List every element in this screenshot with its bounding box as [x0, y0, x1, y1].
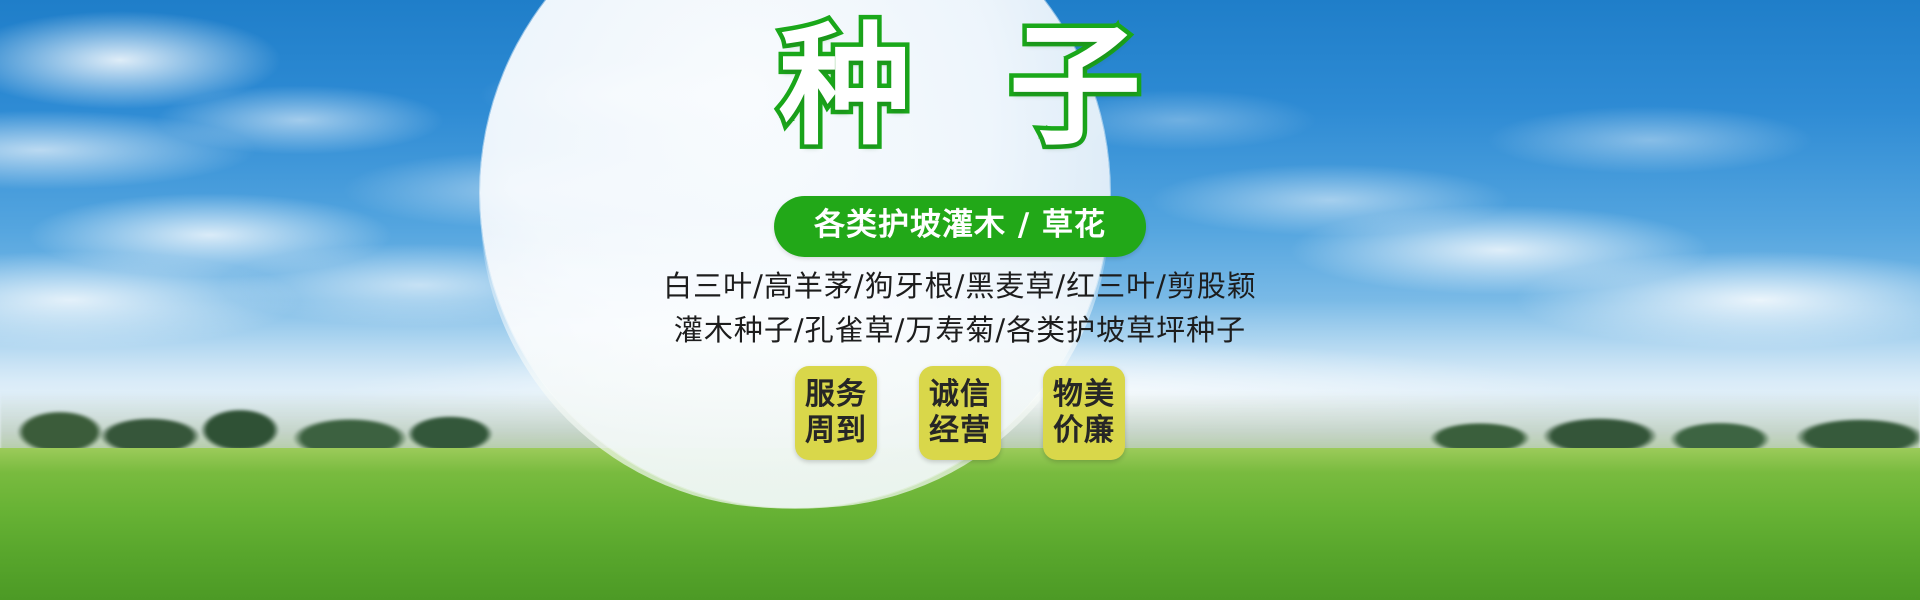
banner-content: 种 子 各类护坡灌木 / 草花 白三叶/高羊茅/狗牙根/黑麦草/红三叶/剪股颖 …: [0, 0, 1920, 600]
badge-service-line-1: 服务: [805, 377, 867, 413]
badge-value-line-1: 物美: [1053, 377, 1115, 413]
badge-integrity: 诚信 经营: [919, 366, 1001, 460]
badge-integrity-line-2: 经营: [929, 413, 991, 449]
badge-integrity-line-1: 诚信: [929, 377, 991, 413]
feature-badges: 服务 周到 诚信 经营 物美 价廉: [795, 366, 1125, 460]
product-list-line-2: 灌木种子/孔雀草/万寿菊/各类护坡草坪种子: [0, 308, 1920, 352]
badge-value: 物美 价廉: [1043, 366, 1125, 460]
badge-service: 服务 周到: [795, 366, 877, 460]
badge-value-line-2: 价廉: [1053, 413, 1115, 449]
product-list: 白三叶/高羊茅/狗牙根/黑麦草/红三叶/剪股颖 灌木种子/孔雀草/万寿菊/各类护…: [0, 264, 1920, 352]
category-pill: 各类护坡灌木 / 草花: [774, 196, 1146, 257]
badge-service-line-2: 周到: [805, 413, 867, 449]
product-list-line-1: 白三叶/高羊茅/狗牙根/黑麦草/红三叶/剪股颖: [0, 264, 1920, 308]
page-title: 种 子: [0, 22, 1920, 152]
seed-promo-banner: 种 子 各类护坡灌木 / 草花 白三叶/高羊茅/狗牙根/黑麦草/红三叶/剪股颖 …: [0, 0, 1920, 600]
